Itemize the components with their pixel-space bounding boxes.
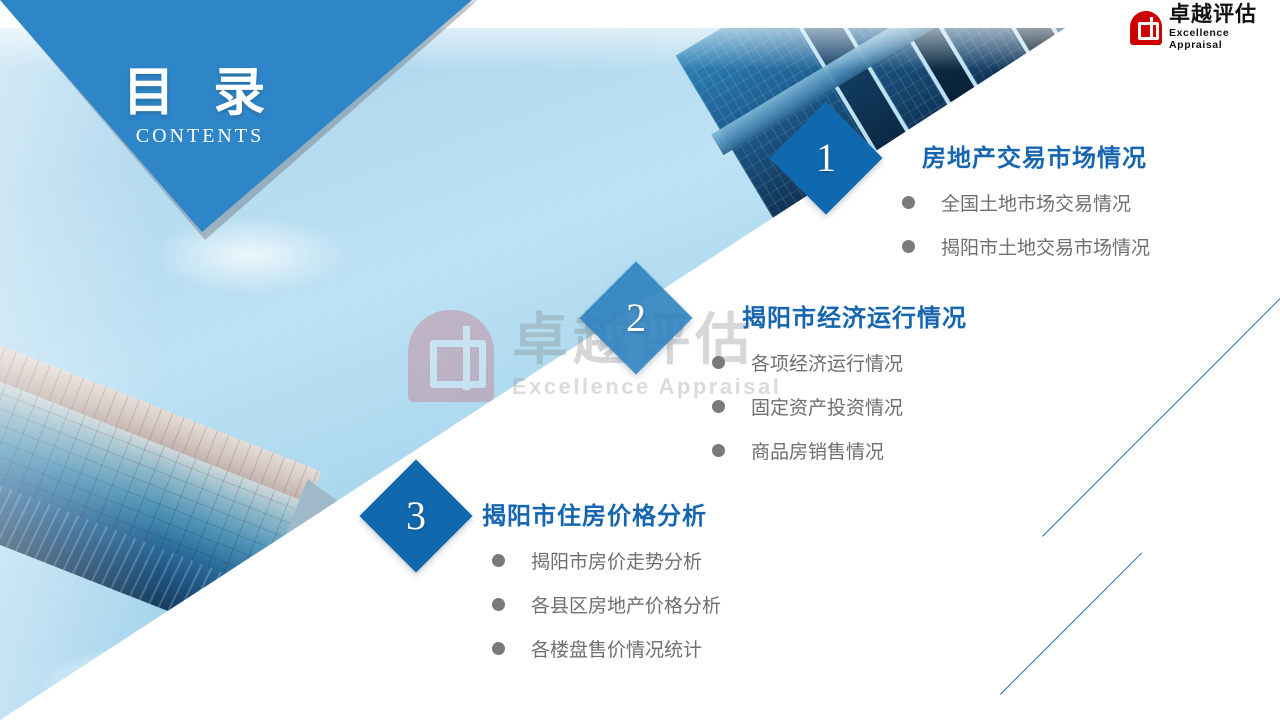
list-item[interactable]: 各楼盘售价情况统计 [492, 626, 721, 670]
section-number-2: 2 [626, 298, 646, 338]
section-item-label: 揭阳市土地交易市场情况 [941, 233, 1150, 260]
list-item[interactable]: 揭阳市房价走势分析 [492, 538, 721, 582]
list-item[interactable]: 各县区房地产价格分析 [492, 582, 721, 626]
bullet-dot-icon [712, 444, 725, 457]
bullet-dot-icon [902, 196, 915, 209]
bullet-dot-icon [492, 642, 505, 655]
contents-slide: 卓越评估 Excellence Appraisal 目 录 CONTENTS 1… [0, 0, 1280, 720]
section-item-label: 固定资产投资情况 [751, 393, 903, 420]
brand-name-en: Excellence Appraisal [1169, 27, 1280, 51]
decorative-diagonal-line-1 [1042, 253, 1280, 537]
section-item-label: 各县区房地产价格分析 [531, 591, 721, 618]
brand-name-cn: 卓越评估 [1169, 4, 1280, 26]
section-heading-3[interactable]: 揭阳市住房价格分析 [482, 496, 707, 531]
brand-logo: 卓越评估 Excellence Appraisal [1130, 4, 1280, 51]
bullet-dot-icon [712, 356, 725, 369]
section-number-3: 3 [406, 496, 426, 536]
section-number-1: 1 [816, 138, 836, 178]
decorative-diagonal-line-2 [1000, 553, 1142, 695]
section-number-diamond-3[interactable]: 3 [359, 459, 472, 572]
list-item[interactable]: 全国土地市场交易情况 [902, 180, 1150, 224]
brand-mark-icon [1130, 11, 1162, 45]
section-heading-2[interactable]: 揭阳市经济运行情况 [742, 298, 967, 333]
list-item[interactable]: 各项经济运行情况 [712, 340, 903, 384]
section-item-label: 全国土地市场交易情况 [941, 189, 1131, 216]
section-item-label: 商品房销售情况 [751, 437, 884, 464]
list-item[interactable]: 揭阳市土地交易市场情况 [902, 224, 1150, 268]
bullet-dot-icon [902, 240, 915, 253]
section-items-1: 全国土地市场交易情况 揭阳市土地交易市场情况 [902, 180, 1150, 268]
bullet-dot-icon [492, 554, 505, 567]
section-item-label: 各楼盘售价情况统计 [531, 635, 702, 662]
list-item[interactable]: 固定资产投资情况 [712, 384, 903, 428]
section-item-label: 各项经济运行情况 [751, 349, 903, 376]
section-items-3: 揭阳市房价走势分析 各县区房地产价格分析 各楼盘售价情况统计 [492, 538, 721, 670]
list-item[interactable]: 商品房销售情况 [712, 428, 903, 472]
bullet-dot-icon [712, 400, 725, 413]
bullet-dot-icon [492, 598, 505, 611]
section-heading-1[interactable]: 房地产交易市场情况 [922, 138, 1147, 173]
section-items-2: 各项经济运行情况 固定资产投资情况 商品房销售情况 [712, 340, 903, 472]
section-item-label: 揭阳市房价走势分析 [531, 547, 702, 574]
